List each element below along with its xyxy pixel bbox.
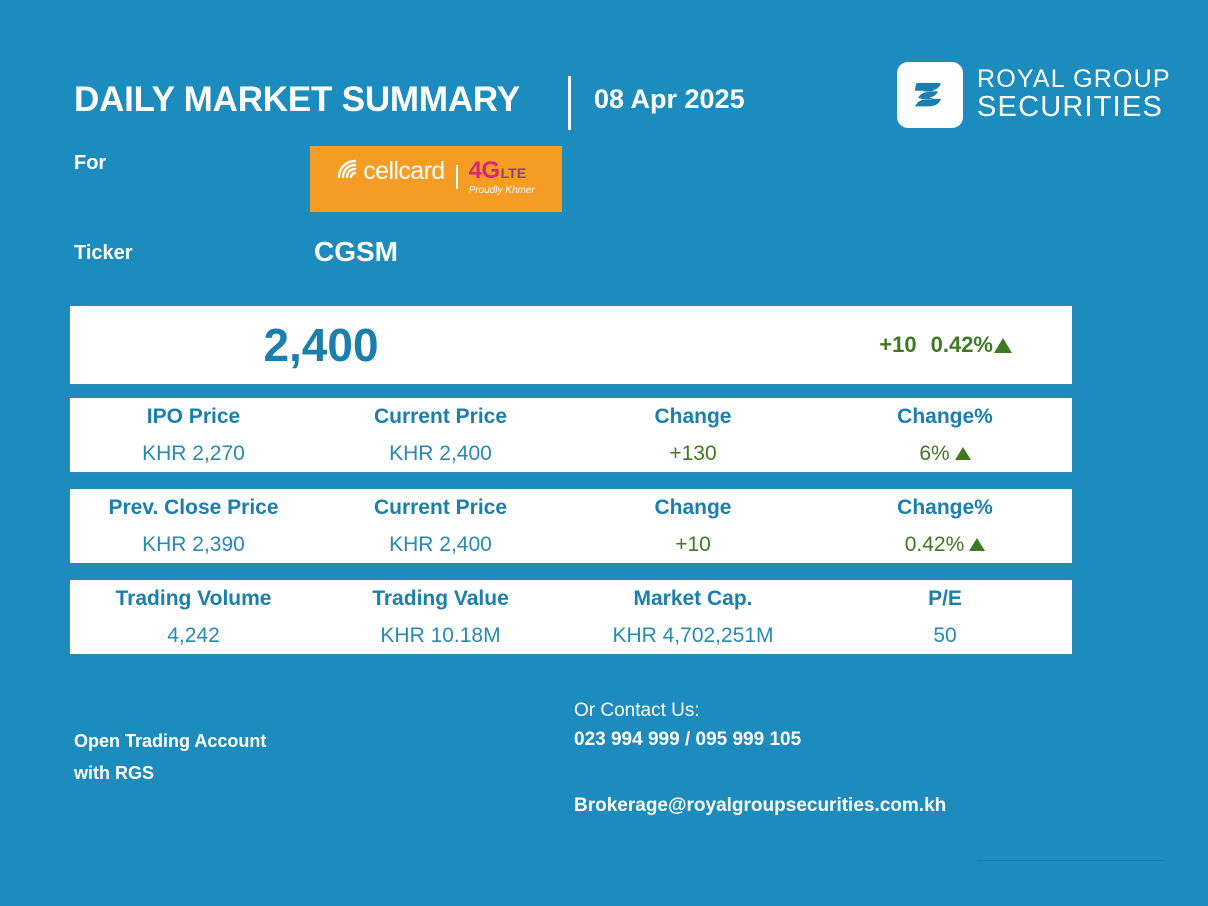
for-label: For <box>74 152 106 175</box>
triangle-up-icon <box>955 447 971 460</box>
decorative-hairline <box>978 860 1164 861</box>
column-header: Current Price <box>317 406 564 443</box>
column-header: IPO Price <box>70 406 317 443</box>
cell-value-group: 6% <box>822 443 1068 464</box>
ticker-label: Ticker <box>74 242 133 265</box>
cell-value: +10 <box>564 534 822 555</box>
cellcard-divider <box>456 165 458 189</box>
column-header: Trading Value <box>317 588 564 625</box>
triangle-up-icon <box>969 538 985 551</box>
table-row: Prev. Close Price Current Price Change C… <box>68 487 1074 565</box>
column-header: Change <box>564 497 822 534</box>
cell-value: KHR 10.18M <box>317 625 564 646</box>
cell-value: KHR 2,390 <box>70 534 317 555</box>
cellcard-tech: 4G <box>469 159 500 183</box>
column-header: P/E <box>822 588 1068 625</box>
signal-arc-icon <box>337 159 359 184</box>
brand-line-1: ROYAL GROUP <box>977 67 1171 93</box>
contact-label: Or Contact Us: <box>574 696 946 725</box>
price-summary-card: 2,400 +10 0.42% <box>68 304 1074 386</box>
cell-value: 4,242 <box>70 625 317 646</box>
cta-line-1: Open Trading Account <box>74 726 266 758</box>
brand-line-2: SECURITIES <box>977 93 1171 123</box>
column-header: Market Cap. <box>564 588 822 625</box>
cell-value: KHR 2,400 <box>317 534 564 555</box>
cell-value: +130 <box>564 443 822 464</box>
price-change-percent: 0.42% <box>931 334 993 356</box>
cta-open-account: Open Trading Account with RGS <box>74 726 266 789</box>
triangle-up-icon <box>994 338 1012 353</box>
column-header: Trading Volume <box>70 588 317 625</box>
cellcard-tagline: Proudly Khmer <box>469 185 535 196</box>
contact-phones[interactable]: 023 994 999 / 095 999 105 <box>574 725 946 754</box>
page-title: DAILY MARKET SUMMARY <box>74 82 520 117</box>
column-header: Prev. Close Price <box>70 497 317 534</box>
cell-value: 50 <box>822 625 1068 646</box>
title-divider <box>568 76 571 130</box>
cellcard-tech-suffix: LTE <box>501 166 526 180</box>
column-header: Change% <box>822 406 1068 443</box>
table-row: IPO Price Current Price Change Change% K… <box>68 396 1074 474</box>
brand-wordmark: ROYAL GROUP SECURITIES <box>977 67 1171 122</box>
cell-value: 6% <box>919 443 949 464</box>
column-header: Current Price <box>317 497 564 534</box>
cta-line-2: with RGS <box>74 758 266 790</box>
contact-block: Or Contact Us: 023 994 999 / 095 999 105… <box>574 696 946 817</box>
cellcard-name: cellcard <box>363 159 444 184</box>
cellcard-logo: cellcard 4G LTE Proudly Khmer <box>310 146 562 212</box>
page-header: DAILY MARKET SUMMARY 08 Apr 2025 ROYAL G… <box>0 0 1208 150</box>
rgs-logo-icon <box>897 62 963 128</box>
brand-logo: ROYAL GROUP SECURITIES <box>897 62 1171 128</box>
report-date: 08 Apr 2025 <box>594 86 745 113</box>
cell-value: KHR 2,270 <box>70 443 317 464</box>
ticker-value: CGSM <box>314 236 398 268</box>
cell-value: KHR 2,400 <box>317 443 564 464</box>
column-header: Change <box>564 406 822 443</box>
cell-value: KHR 4,702,251M <box>564 625 822 646</box>
cell-value: 0.42% <box>905 534 965 555</box>
table-row: Trading Volume Trading Value Market Cap.… <box>68 578 1074 656</box>
cell-value-group: 0.42% <box>822 534 1068 555</box>
price-change-absolute: +10 <box>879 334 916 356</box>
price-change-group: +10 0.42% <box>879 334 1012 356</box>
column-header: Change% <box>822 497 1068 534</box>
contact-email[interactable]: Brokerage@royalgroupsecurities.com.kh <box>574 795 946 817</box>
